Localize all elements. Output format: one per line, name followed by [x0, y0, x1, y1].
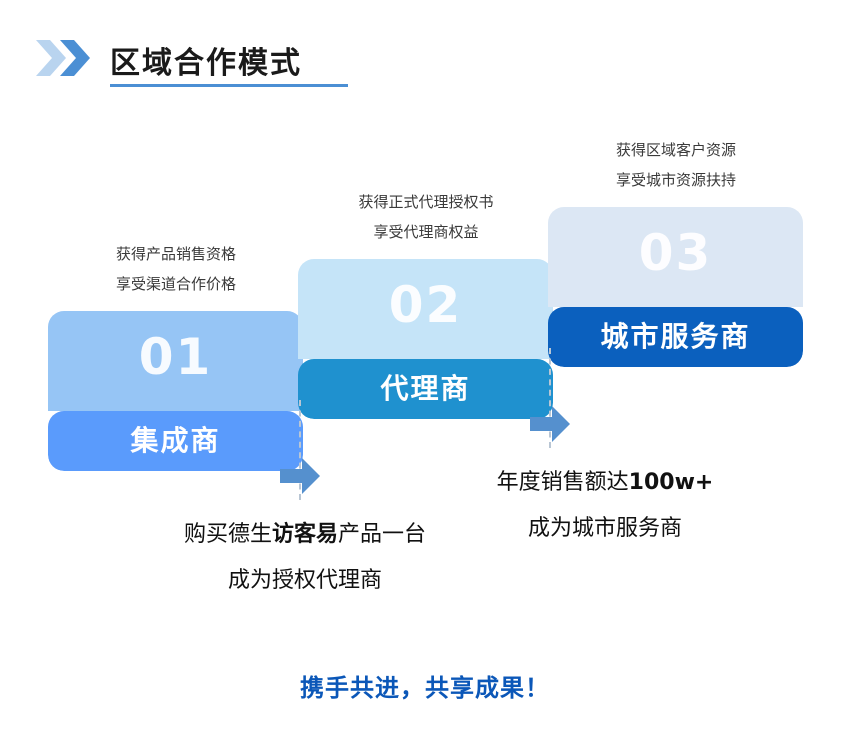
slide-root: 区域合作模式 获得产品销售资格 享受渠道合作价格 01 集成商 获得正式代理授权…	[0, 0, 850, 737]
tier-01-caption: 获得产品销售资格 享受渠道合作价格	[46, 239, 306, 299]
tier-01-label: 集成商	[48, 411, 303, 471]
connector-note-2: 年度销售额达100w+ 成为城市服务商	[455, 460, 755, 552]
tier-02-caption-line1: 获得正式代理授权书	[296, 187, 556, 217]
connector-note-1-line1: 购买德生访客易产品一台	[155, 512, 455, 558]
note-2-bold: 100w+	[629, 470, 714, 495]
tier-02-caption: 获得正式代理授权书 享受代理商权益	[296, 187, 556, 247]
tier-01-number: 01	[48, 327, 303, 387]
tier-01-card[interactable]: 01 集成商	[48, 311, 303, 471]
tier-03-number: 03	[548, 223, 803, 283]
tier-03-label: 城市服务商	[548, 307, 803, 367]
tier-03-caption-line2: 享受城市资源扶持	[546, 165, 806, 195]
note-1-post: 产品一台	[338, 522, 426, 547]
footer-slogan: 携手共进，共享成果！	[0, 668, 850, 703]
partner-tier-diagram: 获得产品销售资格 享受渠道合作价格 01 集成商 获得正式代理授权书 享受代理商…	[0, 0, 850, 737]
connector-note-2-line1: 年度销售额达100w+	[455, 460, 755, 506]
note-1-bold: 访客易	[272, 522, 338, 547]
tier-03-card[interactable]: 03 城市服务商	[548, 207, 803, 367]
arrow-right-icon-1	[280, 458, 320, 494]
arrow-right-icon-2	[530, 406, 570, 442]
note-2-pre: 年度销售额达	[497, 470, 629, 495]
connector-note-2-line2: 成为城市服务商	[455, 506, 755, 552]
tier-01-caption-line2: 享受渠道合作价格	[46, 269, 306, 299]
tier-02-card[interactable]: 02 代理商	[298, 259, 553, 419]
note-1-pre: 购买德生	[184, 522, 272, 547]
tier-02-caption-line2: 享受代理商权益	[296, 217, 556, 247]
tier-02-label: 代理商	[298, 359, 553, 419]
tier-02-number: 02	[298, 275, 553, 335]
tier-01-caption-line1: 获得产品销售资格	[46, 239, 306, 269]
connector-note-1: 购买德生访客易产品一台 成为授权代理商	[155, 512, 455, 604]
connector-note-1-line2: 成为授权代理商	[155, 558, 455, 604]
tier-03-caption: 获得区域客户资源 享受城市资源扶持	[546, 135, 806, 195]
tier-03-caption-line1: 获得区域客户资源	[546, 135, 806, 165]
